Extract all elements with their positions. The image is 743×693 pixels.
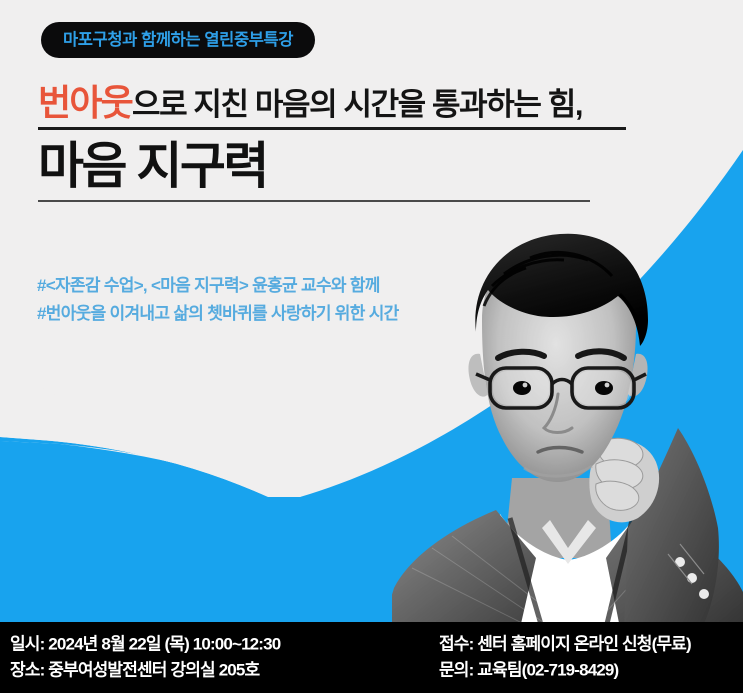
- info-location: 장소: 중부여성발전센터 강의실 205호: [10, 658, 280, 685]
- title-underline-2: [38, 200, 590, 202]
- hashtag-line-2: #번아웃을 이겨내고 삶의 쳇바퀴를 사랑하기 위한 시간: [37, 300, 557, 328]
- title-line-1-rest: 으로 지친 마음의 시간을 통과하는 힘,: [132, 87, 582, 122]
- info-contact: 문의: 교육팀(02-719-8429): [439, 658, 691, 685]
- poster-root: 마포구청과 함께하는 열린중부특강 번아웃으로 지친 마음의 시간을 통과하는 …: [0, 0, 743, 693]
- title-block: 번아웃으로 지친 마음의 시간을 통과하는 힘, 마음 지구력: [38, 82, 668, 202]
- info-column-right: 접수: 센터 홈페이지 온라인 신청(무료) 문의: 교육팀(02-719-84…: [439, 631, 691, 684]
- badge-label: 마포구청과 함께하는 열린중부특강: [63, 32, 293, 49]
- info-datetime: 일시: 2024년 8월 22일 (목) 10:00~12:30: [10, 631, 280, 658]
- hashtag-line-1: #<자존감 수업>, <마음 지구력> 윤홍균 교수와 함께: [37, 272, 557, 300]
- event-badge: 마포구청과 함께하는 열린중부특강: [41, 22, 315, 58]
- hashtag-block: #<자존감 수업>, <마음 지구력> 윤홍균 교수와 함께 #번아웃을 이겨내…: [37, 272, 557, 327]
- title-underline-1: [38, 127, 626, 130]
- title-line-2: 마음 지구력: [38, 138, 668, 194]
- title-highlight: 번아웃: [38, 82, 132, 123]
- info-bar: 일시: 2024년 8월 22일 (목) 10:00~12:30 장소: 중부여…: [0, 622, 743, 693]
- info-column-left: 일시: 2024년 8월 22일 (목) 10:00~12:30 장소: 중부여…: [10, 631, 280, 684]
- info-registration: 접수: 센터 홈페이지 온라인 신청(무료): [439, 631, 691, 658]
- title-line-1: 번아웃으로 지친 마음의 시간을 통과하는 힘,: [38, 82, 668, 124]
